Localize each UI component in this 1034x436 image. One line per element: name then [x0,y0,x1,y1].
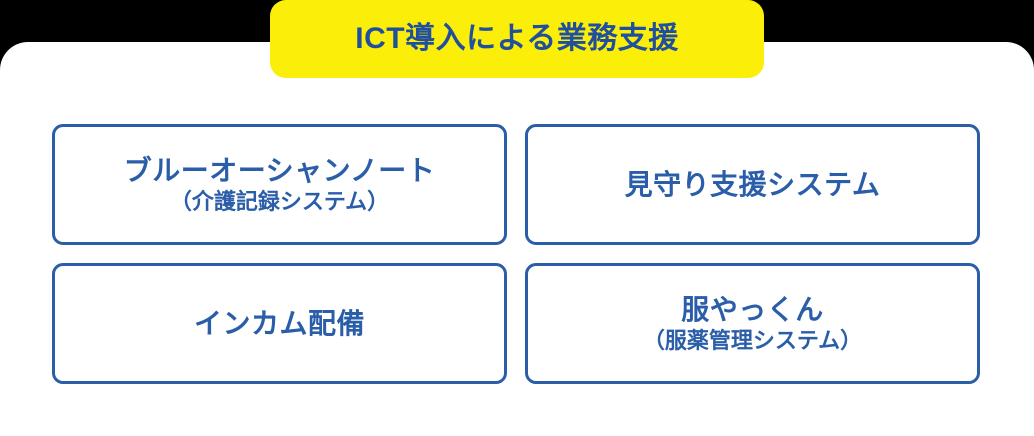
system-box-title: 服やっくん [681,293,824,326]
system-box-title: 見守り支援システム [625,168,881,201]
title-banner: ICT導入による業務支援 [270,0,764,78]
system-box-intercom[interactable]: インカム配備 [52,263,507,384]
ict-support-infographic: ICT導入による業務支援 ブルーオーシャンノート （介護記録システム） 見守り支… [0,0,1034,436]
system-box-blue-ocean-note[interactable]: ブルーオーシャンノート （介護記録システム） [52,124,507,245]
system-box-fuku-yakkun[interactable]: 服やっくん （服薬管理システム） [525,263,980,384]
page-title: ICT導入による業務支援 [355,24,678,54]
system-box-title: インカム配備 [194,307,365,340]
system-box-subtitle: （服薬管理システム） [643,328,862,354]
system-box-title: ブルーオーシャンノート [124,154,436,187]
system-box-subtitle: （介護記録システム） [170,189,389,215]
system-box-grid: ブルーオーシャンノート （介護記録システム） 見守り支援システム インカム配備 … [52,124,980,384]
system-box-watch-support[interactable]: 見守り支援システム [525,124,980,245]
